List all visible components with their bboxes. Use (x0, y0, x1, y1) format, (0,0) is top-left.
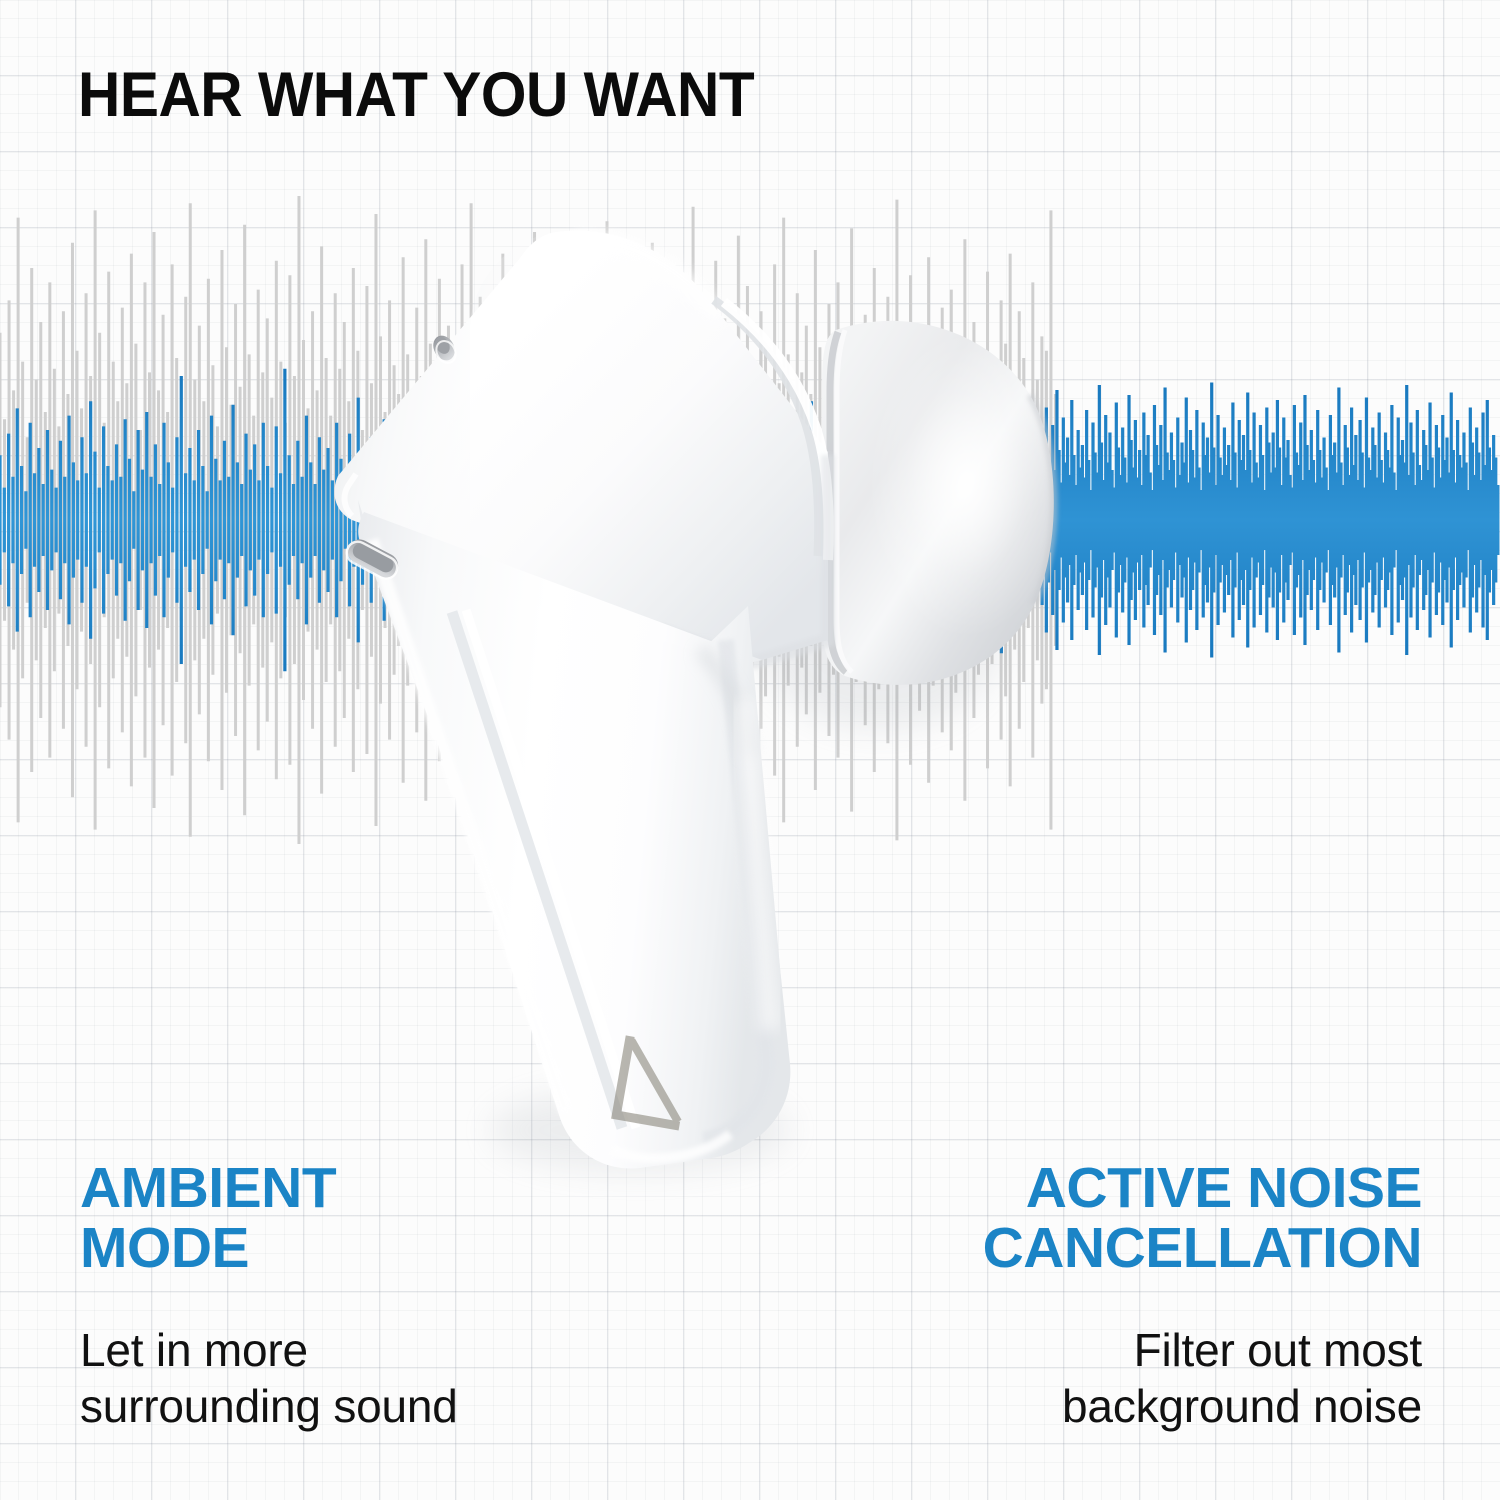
feature-ambient-title: AMBIENT MODE (80, 1158, 458, 1278)
marketing-banner: HEAR WHAT YOU WANT AMBIENT MODE Let in m… (0, 0, 1500, 1500)
feature-ambient-description: Let in more surrounding sound (80, 1278, 458, 1434)
feature-anc-title: ACTIVE NOISE CANCELLATION (983, 1158, 1422, 1278)
feature-active-noise-cancellation: ACTIVE NOISE CANCELLATION Filter out mos… (983, 1158, 1422, 1434)
feature-anc-description: Filter out most background noise (983, 1278, 1422, 1434)
feature-ambient-mode: AMBIENT MODE Let in more surrounding sou… (80, 1158, 458, 1434)
